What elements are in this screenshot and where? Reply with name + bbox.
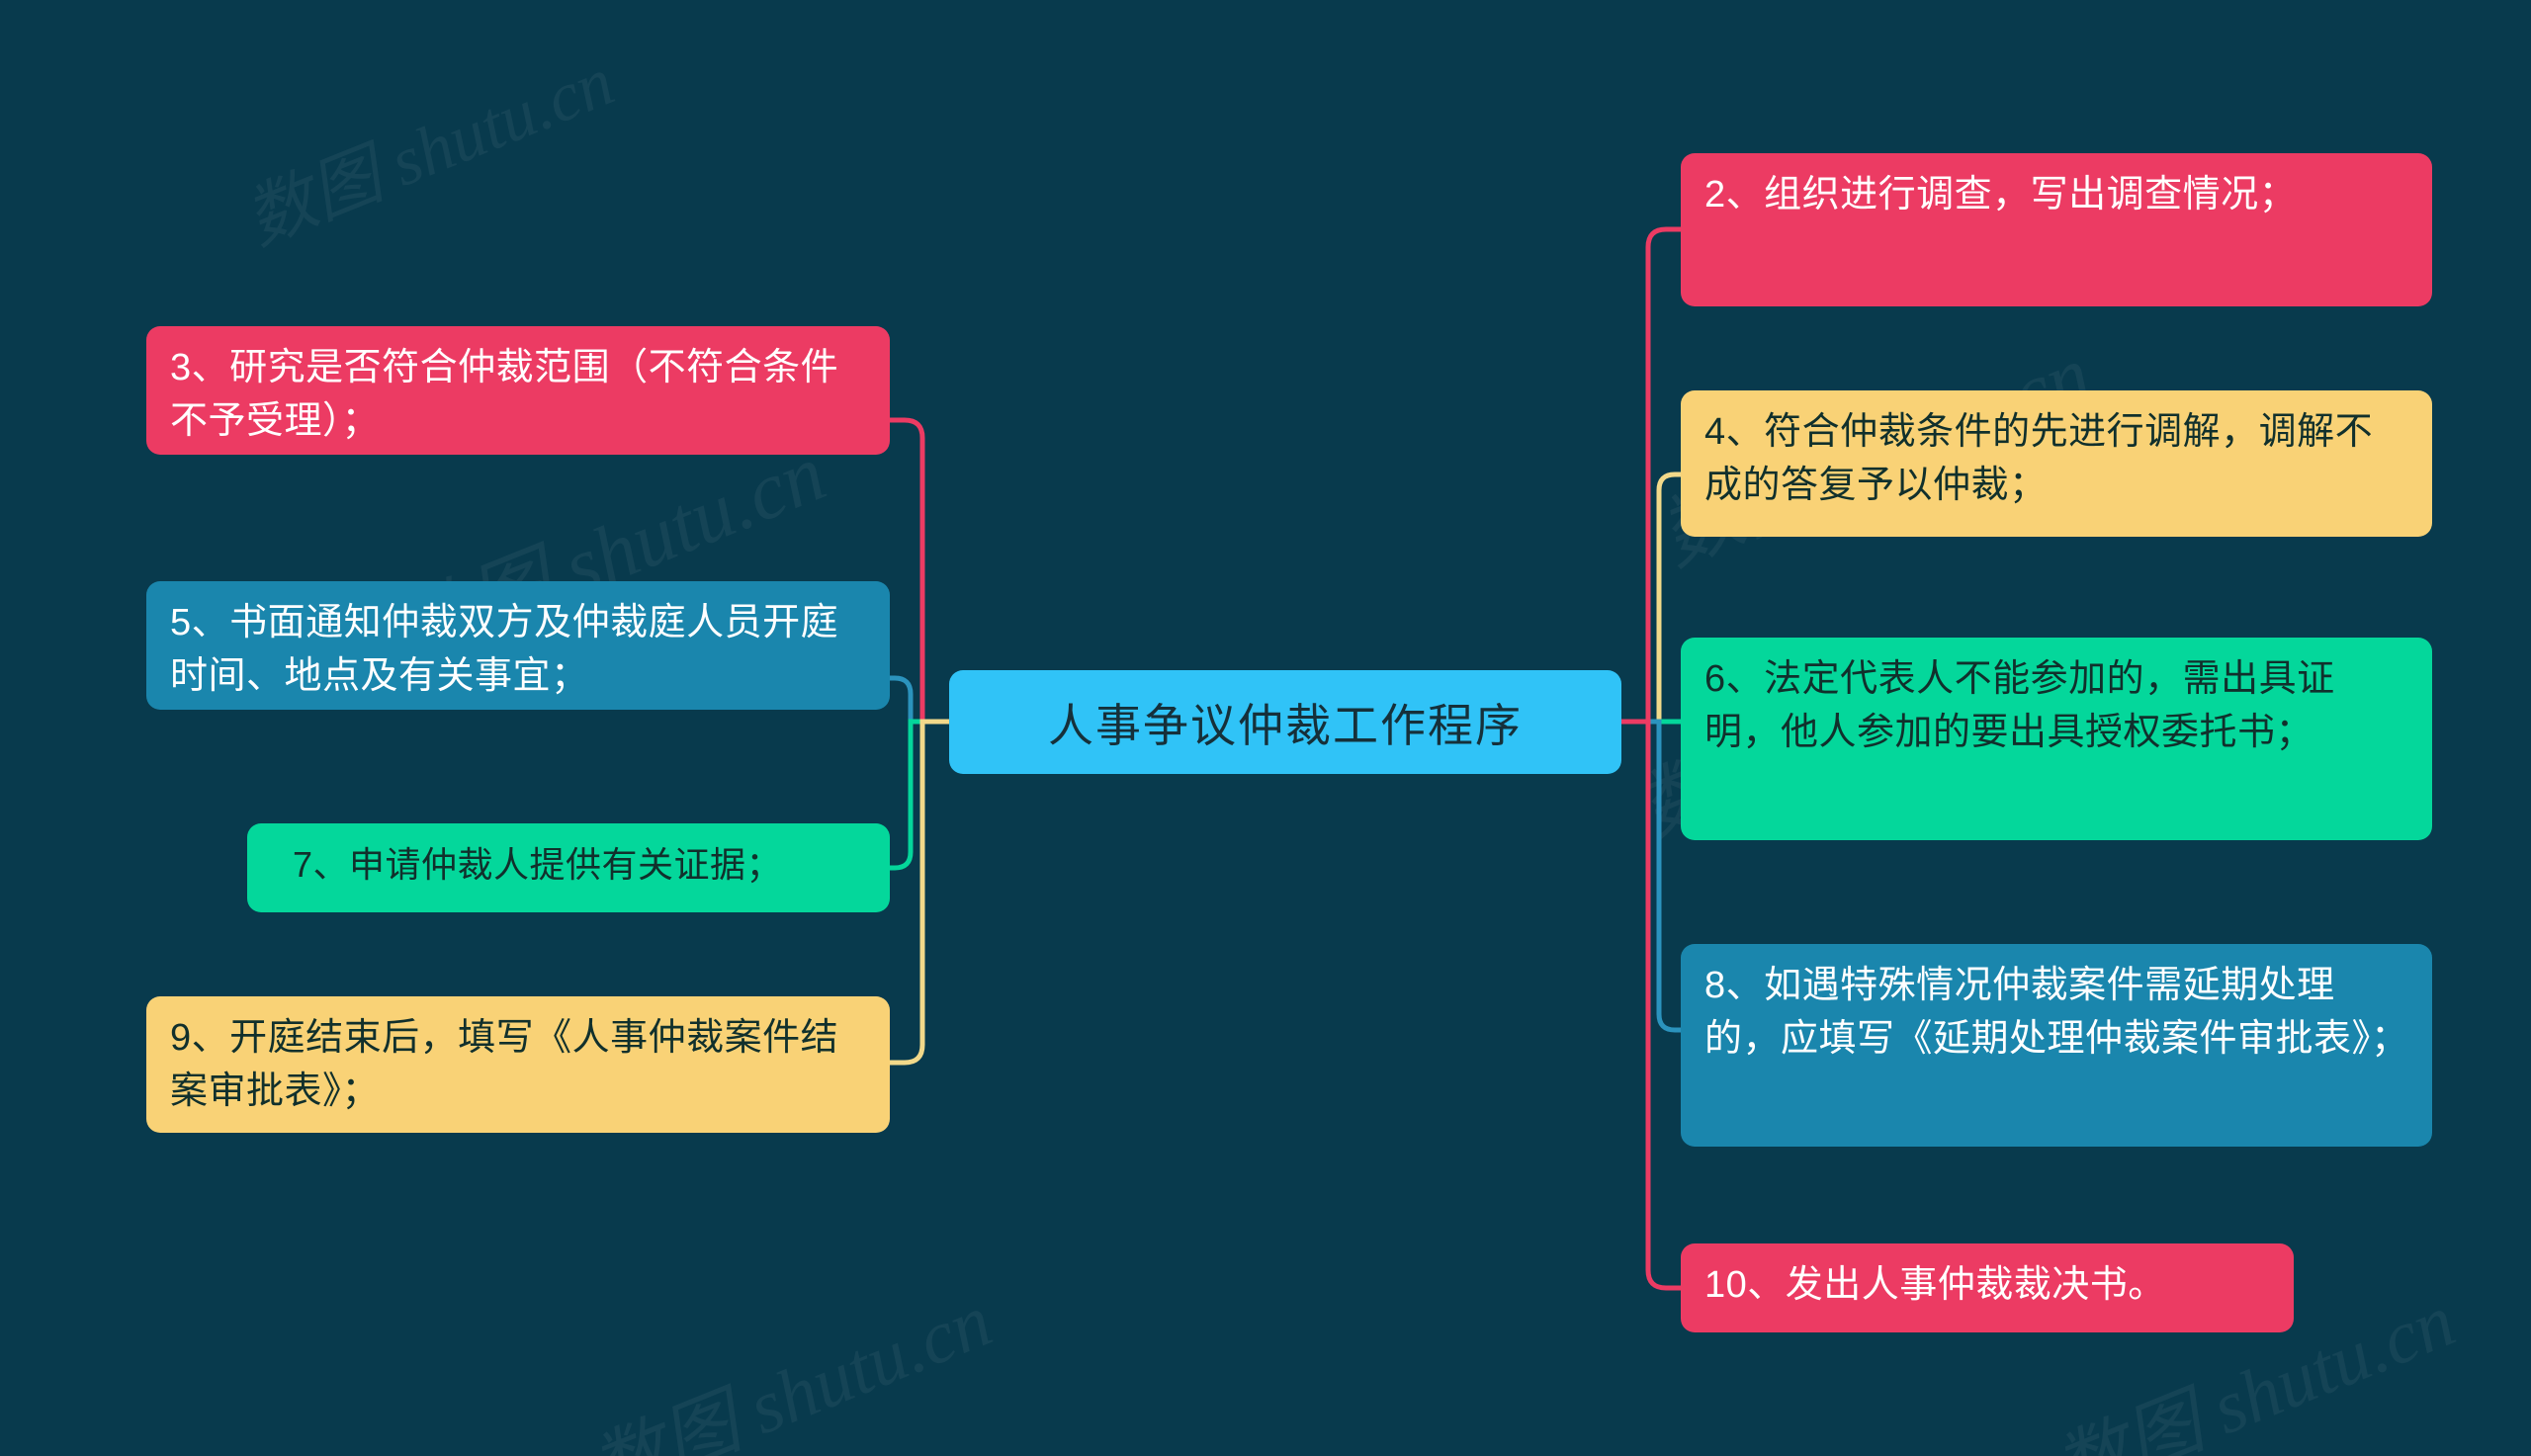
connector-node-2 (1621, 229, 1681, 722)
node-4-label: 4、符合仲裁条件的先进行调解，调解不成的答复予以仲裁； (1704, 406, 2410, 513)
central-node-label: 人事争议仲裁工作程序 (1048, 690, 1523, 755)
connector-node-10 (1621, 722, 1681, 1288)
node-6[interactable]: 6、法定代表人不能参加的，需出具证明，他人参加的要出具授权委托书； (1681, 638, 2432, 840)
connector-node-7 (890, 722, 949, 868)
node-10[interactable]: 10、发出人事仲裁裁决书。 (1681, 1243, 2294, 1332)
node-5-label: 5、书面通知仲裁双方及仲裁庭人员开庭时间、地点及有关事宜； (170, 597, 868, 704)
node-6-label: 6、法定代表人不能参加的，需出具证明，他人参加的要出具授权委托书； (1704, 653, 2410, 760)
node-5[interactable]: 5、书面通知仲裁双方及仲裁庭人员开庭时间、地点及有关事宜； (146, 581, 890, 710)
node-2[interactable]: 2、组织进行调查，写出调查情况； (1681, 153, 2432, 306)
connector-node-5 (890, 678, 949, 722)
node-7[interactable]: 7、申请仲裁人提供有关证据； (247, 823, 890, 912)
central-node[interactable]: 人事争议仲裁工作程序 (949, 670, 1621, 774)
mindmap-canvas: 数图 shutu.cn 数图 shutu.cn 数图 shutu.cn 数图 s… (0, 0, 2531, 1456)
node-7-label: 7、申请仲裁人提供有关证据； (293, 839, 868, 890)
watermark: 数图 shutu.cn (228, 27, 626, 265)
node-2-label: 2、组织进行调查，写出调查情况； (1704, 169, 2410, 222)
node-8[interactable]: 8、如遇特殊情况仲裁案件需延期处理的，应填写《延期处理仲裁案件审批表》； (1681, 944, 2432, 1147)
connector-node-4 (1621, 474, 1681, 722)
node-9[interactable]: 9、开庭结束后，填写《人事仲裁案件结案审批表》； (146, 996, 890, 1133)
node-9-label: 9、开庭结束后，填写《人事仲裁案件结案审批表》； (170, 1012, 868, 1119)
node-8-label: 8、如遇特殊情况仲裁案件需延期处理的，应填写《延期处理仲裁案件审批表》； (1704, 960, 2410, 1067)
node-3-label: 3、研究是否符合仲裁范围（不符合条件不予受理）； (170, 342, 868, 449)
node-3[interactable]: 3、研究是否符合仲裁范围（不符合条件不予受理）； (146, 326, 890, 455)
connector-node-3 (890, 420, 949, 722)
connector-node-9 (890, 722, 949, 1063)
node-4[interactable]: 4、符合仲裁条件的先进行调解，调解不成的答复予以仲裁； (1681, 390, 2432, 537)
connector-node-8 (1621, 722, 1681, 1030)
node-10-label: 10、发出人事仲裁裁决书。 (1704, 1259, 2272, 1313)
watermark: 数图 shutu.cn (572, 1259, 1004, 1456)
